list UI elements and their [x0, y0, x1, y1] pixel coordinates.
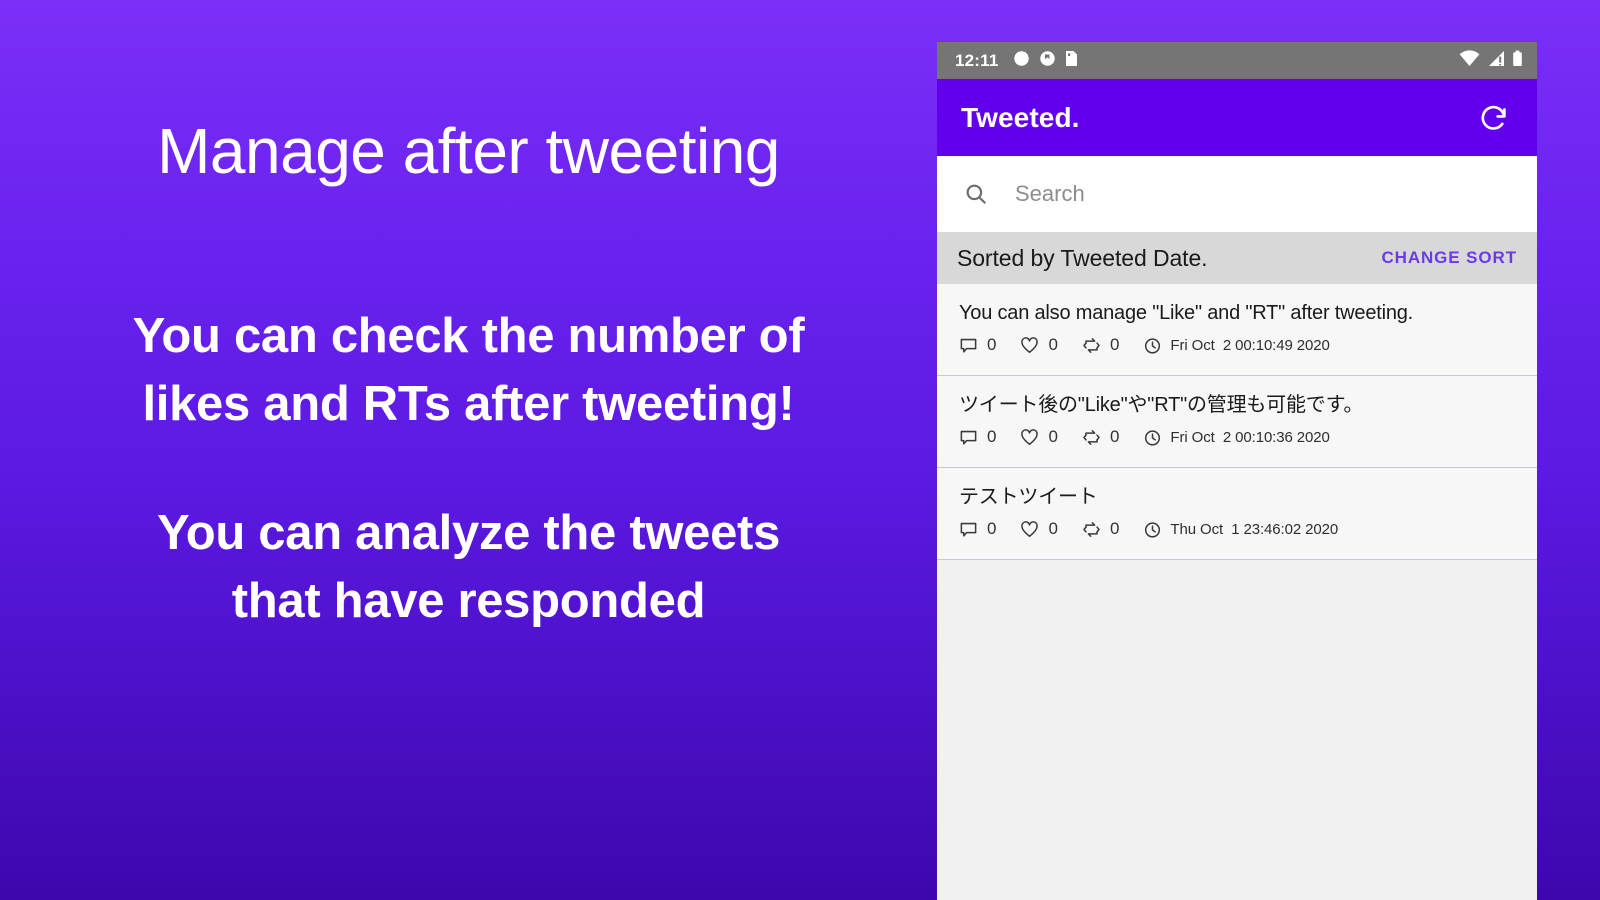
status-bar-clock: 12:11: [955, 51, 999, 71]
battery-icon: [1512, 50, 1523, 72]
app-bar: Tweeted.: [937, 79, 1537, 156]
like-count: 0: [1048, 519, 1057, 539]
tweet-date: Thu Oct 1 23:46:02 2020: [1170, 521, 1338, 538]
change-sort-button[interactable]: CHANGE SORT: [1379, 244, 1519, 272]
comment-icon: [959, 428, 978, 447]
tweet-list-item[interactable]: You can also manage "Like" and "RT" afte…: [937, 284, 1537, 376]
notification-circle-icon: [1039, 50, 1056, 72]
status-bar-notification-icons: [1013, 50, 1078, 72]
promo-line: likes and RTs after tweeting!: [133, 371, 805, 439]
refresh-icon[interactable]: [1473, 97, 1515, 139]
retweet-icon: [1082, 428, 1101, 447]
promo-line: You can check the number of: [133, 303, 805, 371]
sort-bar: Sorted by Tweeted Date. CHANGE SORT: [937, 232, 1537, 284]
tweet-list-item[interactable]: テストツイート 0: [937, 468, 1537, 560]
tweet-list-item[interactable]: ツイート後の"Like"や"RT"の管理も可能です。 0: [937, 376, 1537, 468]
comment-icon: [959, 520, 978, 539]
reply-count-group: 0: [959, 427, 996, 447]
reply-count: 0: [987, 519, 996, 539]
retweet-count-group: 0: [1082, 427, 1119, 447]
tweet-date: Fri Oct 2 00:10:49 2020: [1170, 337, 1329, 354]
background-strip-right: [1565, 0, 1600, 900]
promo-panel: Manage after tweeting You can check the …: [0, 0, 937, 900]
like-count: 0: [1048, 427, 1057, 447]
notification-dot-icon: [1013, 50, 1030, 72]
sort-label: Sorted by Tweeted Date.: [957, 245, 1379, 272]
promo-line: that have responded: [157, 568, 780, 636]
retweet-count: 0: [1110, 519, 1119, 539]
page-title: Manage after tweeting: [157, 118, 780, 185]
retweet-icon: [1082, 520, 1101, 539]
tweet-meta: 0 0: [959, 519, 1517, 539]
status-bar: 12:11: [937, 42, 1537, 79]
search-input[interactable]: [1015, 181, 1515, 207]
tweet-meta: 0 0: [959, 427, 1517, 447]
comment-icon: [959, 336, 978, 355]
tweet-text: ツイート後の"Like"や"RT"の管理も可能です。: [959, 392, 1517, 418]
reply-count-group: 0: [959, 335, 996, 355]
heart-icon: [1020, 428, 1039, 447]
retweet-count: 0: [1110, 335, 1119, 355]
retweet-count-group: 0: [1082, 335, 1119, 355]
slide-canvas: Manage after tweeting You can check the …: [0, 0, 1600, 900]
tweet-date: Fri Oct 2 00:10:36 2020: [1170, 429, 1329, 446]
tweet-meta: 0 0: [959, 335, 1517, 355]
heart-icon: [1020, 520, 1039, 539]
reply-count: 0: [987, 427, 996, 447]
retweet-icon: [1082, 336, 1101, 355]
status-bar-system-icons: [1459, 50, 1523, 72]
search-bar[interactable]: [937, 156, 1537, 232]
clock-icon: [1143, 336, 1162, 355]
retweet-count: 0: [1110, 427, 1119, 447]
retweet-count-group: 0: [1082, 519, 1119, 539]
search-icon: [963, 181, 989, 207]
promo-block-1: You can check the number of likes and RT…: [133, 303, 805, 438]
reply-count-group: 0: [959, 519, 996, 539]
promo-line: You can analyze the tweets: [157, 500, 780, 568]
like-count-group: 0: [1020, 335, 1057, 355]
like-count-group: 0: [1020, 427, 1057, 447]
heart-icon: [1020, 336, 1039, 355]
wifi-icon: [1459, 50, 1480, 72]
like-count-group: 0: [1020, 519, 1057, 539]
clock-icon: [1143, 428, 1162, 447]
tweet-list[interactable]: You can also manage "Like" and "RT" afte…: [937, 284, 1537, 900]
phone-screenshot: 12:11: [937, 42, 1537, 900]
sim-card-icon: [1065, 50, 1078, 72]
tweet-text: You can also manage "Like" and "RT" afte…: [959, 300, 1517, 326]
reply-count: 0: [987, 335, 996, 355]
tweet-text: テストツイート: [959, 484, 1517, 510]
app-title: Tweeted.: [961, 102, 1473, 134]
like-count: 0: [1048, 335, 1057, 355]
promo-block-2: You can analyze the tweets that have res…: [157, 500, 780, 635]
clock-icon: [1143, 520, 1162, 539]
cell-signal-icon: [1487, 50, 1505, 72]
